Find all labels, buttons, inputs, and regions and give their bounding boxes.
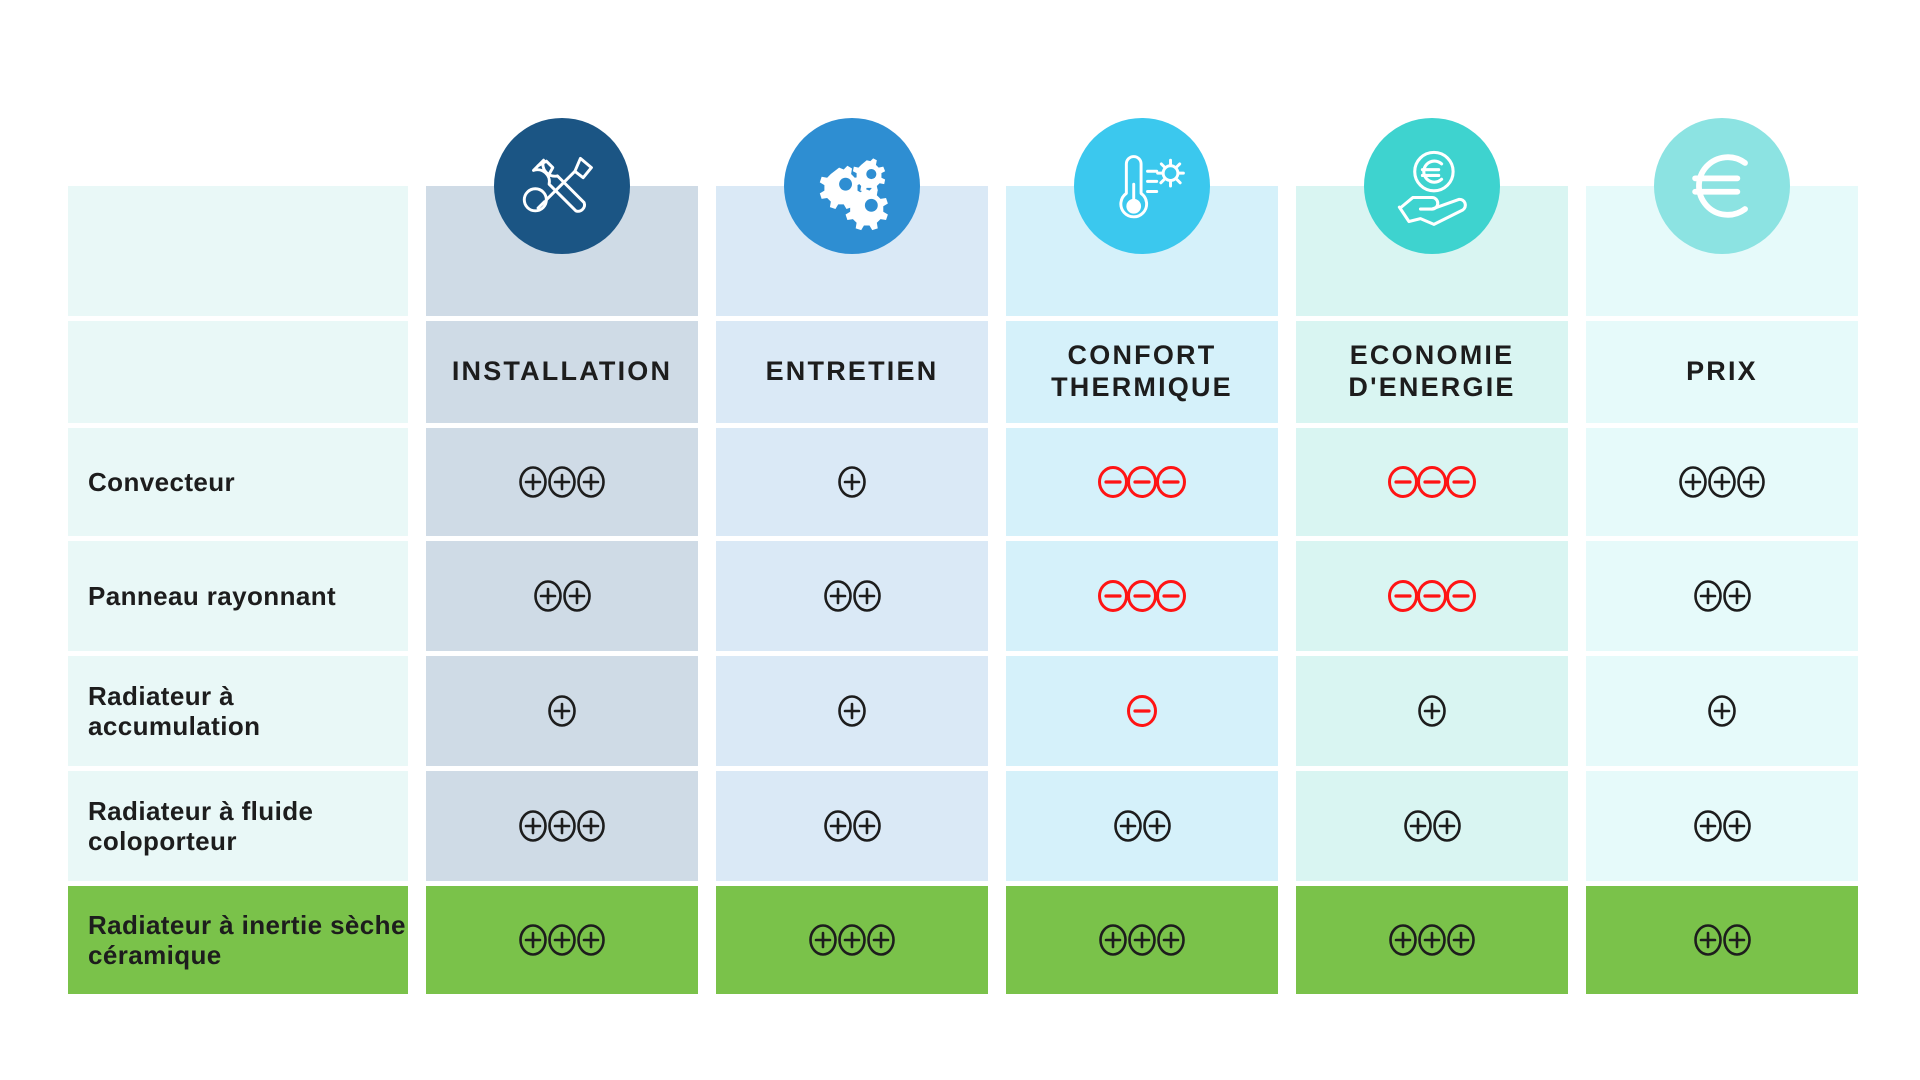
rating-cell-entretien-row2 xyxy=(716,656,988,766)
rating-cell-installation-row3 xyxy=(426,771,698,881)
rating-cell-installation-row2 xyxy=(426,656,698,766)
plus-circle-icon xyxy=(1719,578,1755,614)
minus-circle-icon xyxy=(1153,578,1189,614)
plus-circle-icon xyxy=(573,464,609,500)
header-label-blank xyxy=(68,321,408,423)
column-header-label: INSTALLATION xyxy=(452,356,672,388)
row-label-text: Panneau rayonnant xyxy=(88,581,336,611)
plus-circle-icon xyxy=(834,464,870,500)
rating-group xyxy=(1385,578,1479,614)
rating-cell-installation-row4 xyxy=(426,886,698,994)
plus-circle-icon xyxy=(1153,922,1189,958)
column-icon-band-economie xyxy=(1296,186,1568,316)
row-label-text: Radiateur à accumulation xyxy=(88,681,408,742)
rating-cell-entretien-row4 xyxy=(716,886,988,994)
rating-group xyxy=(515,922,609,958)
rating-cell-prix-row4 xyxy=(1586,886,1858,994)
column-header-confort: CONFORT THERMIQUE xyxy=(1006,321,1278,423)
rating-cell-economie-row2 xyxy=(1296,656,1568,766)
rating-cell-prix-row2 xyxy=(1586,656,1858,766)
minus-circle-icon xyxy=(1124,693,1160,729)
minus-circle-icon xyxy=(1153,464,1189,500)
rating-cell-confort-row1 xyxy=(1006,541,1278,651)
rating-group xyxy=(1095,922,1189,958)
rating-group xyxy=(1414,693,1450,729)
rating-cell-installation-row1 xyxy=(426,541,698,651)
rating-cell-confort-row2 xyxy=(1006,656,1278,766)
minus-circle-icon xyxy=(1443,464,1479,500)
plus-circle-icon xyxy=(863,922,899,958)
corner-cell xyxy=(68,186,408,316)
rating-cell-installation-row0 xyxy=(426,428,698,536)
rating-cell-prix-row1 xyxy=(1586,541,1858,651)
row-label-3: Radiateur à fluide coloporteur xyxy=(68,771,408,881)
row-label-text: Radiateur à inertie sèche céramique xyxy=(88,910,408,971)
column-icon-band-entretien xyxy=(716,186,988,316)
column-icon-band-installation xyxy=(426,186,698,316)
wrench-screwdriver-icon xyxy=(494,118,630,254)
plus-circle-icon xyxy=(1414,693,1450,729)
rating-group xyxy=(1690,808,1755,844)
plus-circle-icon xyxy=(559,578,595,614)
row-label-text: Radiateur à fluide coloporteur xyxy=(88,796,408,857)
minus-circle-icon xyxy=(1443,578,1479,614)
rating-cell-economie-row1 xyxy=(1296,541,1568,651)
rating-group xyxy=(1690,922,1755,958)
rating-group xyxy=(544,693,580,729)
rating-cell-prix-row3 xyxy=(1586,771,1858,881)
thermometer-sun-icon xyxy=(1074,118,1210,254)
rating-group xyxy=(1690,578,1755,614)
rating-group xyxy=(1400,808,1465,844)
euro-hand-icon xyxy=(1364,118,1500,254)
comparison-table-page: INSTALLATIONENTRETIENCONFORT THERMIQUEEC… xyxy=(0,0,1920,1080)
plus-circle-icon xyxy=(849,808,885,844)
rating-group xyxy=(1110,808,1175,844)
euro-icon xyxy=(1654,118,1790,254)
row-label-2: Radiateur à accumulation xyxy=(68,656,408,766)
column-header-entretien: ENTRETIEN xyxy=(716,321,988,423)
plus-circle-icon xyxy=(849,578,885,614)
plus-circle-icon xyxy=(1443,922,1479,958)
column-header-label: CONFORT THERMIQUE xyxy=(1006,340,1278,404)
plus-circle-icon xyxy=(1429,808,1465,844)
rating-cell-economie-row4 xyxy=(1296,886,1568,994)
plus-circle-icon xyxy=(834,693,870,729)
plus-circle-icon xyxy=(1719,922,1755,958)
column-header-economie: ECONOMIE D'ENERGIE xyxy=(1296,321,1568,423)
rating-group xyxy=(515,808,609,844)
plus-circle-icon xyxy=(1704,693,1740,729)
plus-circle-icon xyxy=(573,808,609,844)
rating-cell-entretien-row1 xyxy=(716,541,988,651)
rating-group xyxy=(820,578,885,614)
rating-group xyxy=(820,808,885,844)
rating-cell-entretien-row0 xyxy=(716,428,988,536)
rating-group xyxy=(805,922,899,958)
rating-group xyxy=(1095,464,1189,500)
column-icon-band-confort xyxy=(1006,186,1278,316)
plus-circle-icon xyxy=(573,922,609,958)
rating-cell-confort-row4 xyxy=(1006,886,1278,994)
plus-circle-icon xyxy=(1139,808,1175,844)
column-header-label: ENTRETIEN xyxy=(766,356,939,388)
gears-icon xyxy=(784,118,920,254)
rating-group xyxy=(834,693,870,729)
rating-group xyxy=(530,578,595,614)
rating-cell-confort-row3 xyxy=(1006,771,1278,881)
plus-circle-icon xyxy=(1733,464,1769,500)
column-header-label: PRIX xyxy=(1686,356,1758,388)
column-header-prix: PRIX xyxy=(1586,321,1858,423)
rating-group xyxy=(1675,464,1769,500)
rating-cell-economie-row3 xyxy=(1296,771,1568,881)
column-header-label: ECONOMIE D'ENERGIE xyxy=(1296,340,1568,404)
rating-group xyxy=(515,464,609,500)
row-label-1: Panneau rayonnant xyxy=(68,541,408,651)
rating-cell-confort-row0 xyxy=(1006,428,1278,536)
rating-group xyxy=(1095,578,1189,614)
row-label-4: Radiateur à inertie sèche céramique xyxy=(68,886,408,994)
rating-group xyxy=(1124,693,1160,729)
rating-cell-prix-row0 xyxy=(1586,428,1858,536)
comparison-table: INSTALLATIONENTRETIENCONFORT THERMIQUEEC… xyxy=(68,186,1858,994)
rating-group xyxy=(1704,693,1740,729)
plus-circle-icon xyxy=(1719,808,1755,844)
rating-group xyxy=(1385,922,1479,958)
row-label-text: Convecteur xyxy=(88,467,235,497)
row-label-0: Convecteur xyxy=(68,428,408,536)
column-header-installation: INSTALLATION xyxy=(426,321,698,423)
rating-group xyxy=(834,464,870,500)
rating-cell-entretien-row3 xyxy=(716,771,988,881)
rating-cell-economie-row0 xyxy=(1296,428,1568,536)
column-icon-band-prix xyxy=(1586,186,1858,316)
rating-group xyxy=(1385,464,1479,500)
plus-circle-icon xyxy=(544,693,580,729)
